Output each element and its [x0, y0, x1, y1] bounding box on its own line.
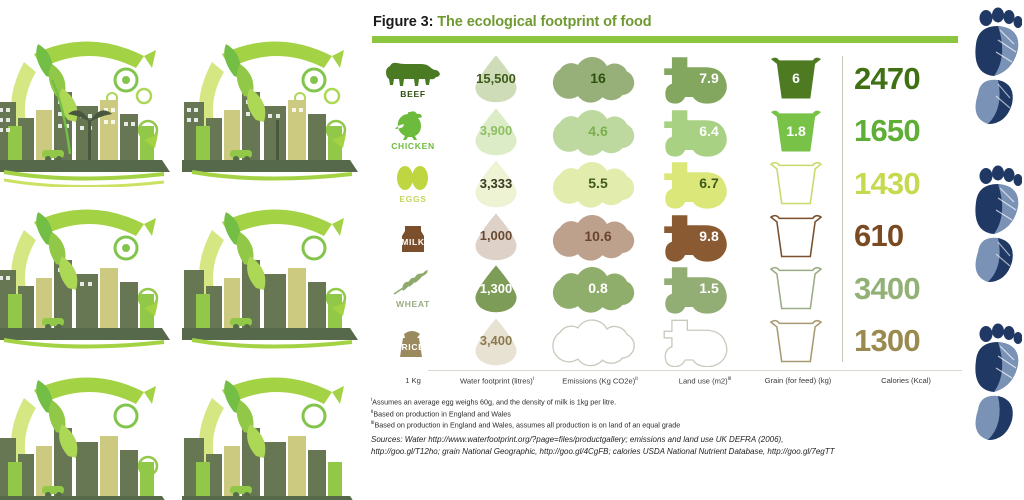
- calories-value: 2470: [854, 63, 920, 94]
- figure-title-text: The ecological footprint of food: [437, 14, 651, 30]
- water-drop-icon: 3,333: [460, 157, 532, 210]
- footnote-text: Based on production in England and Wales: [373, 409, 511, 418]
- calories-cell: 1300: [854, 315, 958, 368]
- emissions-cell: 0.8: [540, 262, 656, 315]
- tractor-icon: 1.5: [662, 262, 748, 315]
- emissions-value: 0.8: [588, 280, 607, 296]
- col-header-grain: Grain (for feed) (kg): [754, 376, 842, 385]
- emissions-cell: 5.5: [540, 157, 656, 210]
- calories-cell: 610: [854, 210, 958, 263]
- grain-cell: [754, 210, 838, 263]
- emissions-value: 4.6: [588, 123, 607, 139]
- eggs-icon: [384, 163, 442, 193]
- eco-city-illustration: [0, 358, 172, 500]
- land-use-value: 6.7: [699, 175, 718, 191]
- food-label: BEEF: [400, 89, 425, 99]
- sources-line-1: Sources: Water http://www.waterfootprint…: [371, 434, 959, 446]
- water-footprint-cell: 15,500: [460, 52, 532, 105]
- water-value: 3,333: [480, 176, 513, 191]
- sources-block: Sources: Water http://www.waterfootprint…: [371, 434, 959, 458]
- water-drop-icon: 1,300: [460, 262, 532, 315]
- beef-icon: [384, 58, 442, 88]
- calories-value: 1430: [854, 168, 920, 199]
- eco-city-illustration: [0, 190, 172, 355]
- eco-city-illustration: [0, 22, 172, 187]
- food-label: CHICKEN: [391, 141, 435, 151]
- footprint-logo-zone: [962, 0, 1024, 500]
- tractor-icon: 9.8: [662, 210, 748, 263]
- grain-basket-icon: 1.8: [754, 105, 838, 158]
- land-use-value: 7.9: [699, 70, 718, 86]
- water-value: 1,300: [480, 281, 513, 296]
- grain-cell: [754, 262, 838, 315]
- food-label: WHEAT: [396, 299, 430, 309]
- water-footprint-cell: 1,300: [460, 262, 532, 315]
- water-footprint-cell: 3,900: [460, 105, 532, 158]
- land-use-value: 6.4: [699, 123, 718, 139]
- footprint-logo-icon: [964, 320, 1022, 472]
- eco-illustration-zone: [0, 0, 362, 500]
- col-header-calories: Calories (Kcal): [854, 376, 958, 385]
- food-label: MILK: [401, 237, 425, 247]
- water-drop-icon: 3,400: [460, 315, 532, 368]
- land-use-cell: 6.7: [662, 157, 748, 210]
- eco-city-illustration: [182, 22, 360, 187]
- footnote-text: Assumes an average egg weighs 60g, and t…: [372, 397, 616, 406]
- grain-value: 6: [792, 70, 800, 86]
- eco-city-illustration: [182, 358, 360, 500]
- food-cell: CHICKEN: [374, 105, 452, 158]
- calories-value: 1300: [854, 325, 920, 356]
- footnote-text: Based on production in England and Wales…: [374, 420, 680, 429]
- land-use-value: 9.8: [699, 228, 718, 244]
- water-footprint-cell: 3,333: [460, 157, 532, 210]
- emissions-cell: 10.6: [540, 210, 656, 263]
- col-header-water: Water footprint (litres)i: [454, 376, 540, 386]
- calories-value: 610: [854, 220, 903, 251]
- figure-number: Figure 3:: [373, 14, 433, 30]
- table-row: BEEF 15,500 16 7.9: [368, 52, 962, 105]
- calories-cell: 2470: [854, 52, 958, 105]
- water-value: 1,000: [480, 228, 513, 243]
- emissions-cell: 16: [540, 52, 656, 105]
- table-row: EGGS 3,333 5.5 6.7: [368, 157, 962, 210]
- food-cell: RICE: [374, 315, 452, 368]
- land-use-cell: 9.8: [662, 210, 748, 263]
- eco-city-illustration: [182, 190, 360, 355]
- emissions-value: 10.6: [584, 228, 611, 244]
- emissions-value: 16: [590, 70, 606, 86]
- col-header-land: Land use (m2)iii: [660, 376, 750, 386]
- footnotes: iAssumes an average egg weighs 60g, and …: [371, 396, 951, 431]
- calories-value: 3400: [854, 273, 920, 304]
- table-row: RICE 3,400: [368, 315, 962, 368]
- tractor-icon: 6.4: [662, 105, 748, 158]
- col-header-emissions: Emissions (Kg CO2e)ii: [544, 376, 656, 386]
- emissions-cloud-icon: 0.8: [540, 262, 656, 315]
- emissions-cloud-icon: 16: [540, 52, 656, 105]
- calories-cell: 3400: [854, 262, 958, 315]
- emissions-cloud-icon: 10.6: [540, 210, 656, 263]
- grain-basket-icon: [754, 210, 838, 263]
- table-row: WHEAT 1,300 0.8 1.5: [368, 262, 962, 315]
- footnote: iAssumes an average egg weighs 60g, and …: [371, 396, 951, 408]
- footprint-table: BEEF 15,500 16 7.9: [368, 52, 962, 368]
- figure-panel: Figure 3: The ecological footprint of fo…: [368, 0, 962, 500]
- tractor-icon: [662, 315, 748, 368]
- grain-cell: 6: [754, 52, 838, 105]
- water-footprint-cell: 1,000: [460, 210, 532, 263]
- emissions-cell: [540, 315, 656, 368]
- footprint-logo-icon: [964, 4, 1022, 156]
- water-value: 3,400: [480, 333, 513, 348]
- grain-basket-icon: [754, 157, 838, 210]
- footnote: iiiBased on production in England and Wa…: [371, 419, 951, 431]
- chicken-icon: [384, 110, 442, 140]
- sources-line-2: http://goo.gl/T12ho; grain National Geog…: [371, 446, 959, 458]
- col-header-food: 1 Kg: [374, 376, 452, 385]
- food-cell: BEEF: [374, 52, 452, 105]
- table-row: MILK 1,000 10.6 9.8: [368, 210, 962, 263]
- land-use-cell: [662, 315, 748, 368]
- water-drop-icon: 3,900: [460, 105, 532, 158]
- food-cell: WHEAT: [374, 262, 452, 315]
- emissions-value: 5.5: [588, 175, 607, 191]
- infographic-page: Figure 3: The ecological footprint of fo…: [0, 0, 1024, 500]
- grain-cell: [754, 157, 838, 210]
- land-use-value: 1.5: [699, 280, 718, 296]
- water-drop-icon: 1,000: [460, 210, 532, 263]
- title-accent-bar: [372, 36, 958, 43]
- land-use-cell: 6.4: [662, 105, 748, 158]
- calories-cell: 1650: [854, 105, 958, 158]
- tractor-icon: 6.7: [662, 157, 748, 210]
- food-cell: MILK: [374, 210, 452, 263]
- land-use-cell: 1.5: [662, 262, 748, 315]
- calories-cell: 1430: [854, 157, 958, 210]
- water-footprint-cell: 3,400: [460, 315, 532, 368]
- food-label: EGGS: [399, 194, 426, 204]
- grain-cell: [754, 315, 838, 368]
- water-value: 3,900: [480, 123, 513, 138]
- emissions-cell: 4.6: [540, 105, 656, 158]
- emissions-cloud-icon: 5.5: [540, 157, 656, 210]
- footnote: iiBased on production in England and Wal…: [371, 408, 951, 420]
- footprint-logo-icon: [964, 162, 1022, 314]
- calories-value: 1650: [854, 115, 920, 146]
- emissions-cloud-icon: [540, 315, 656, 368]
- water-drop-icon: 15,500: [460, 52, 532, 105]
- tractor-icon: 7.9: [662, 52, 748, 105]
- header-rule: [428, 370, 962, 371]
- land-use-cell: 7.9: [662, 52, 748, 105]
- grain-basket-icon: 6: [754, 52, 838, 105]
- water-value: 15,500: [476, 71, 516, 86]
- grain-cell: 1.8: [754, 105, 838, 158]
- grain-value: 1.8: [786, 123, 805, 139]
- food-cell: EGGS: [374, 157, 452, 210]
- table-row: CHICKEN 3,900 4.6 6.4: [368, 105, 962, 158]
- grain-basket-icon: [754, 315, 838, 368]
- food-label: RICE: [401, 342, 424, 352]
- grain-basket-icon: [754, 262, 838, 315]
- column-divider: [842, 56, 843, 362]
- emissions-cloud-icon: 4.6: [540, 105, 656, 158]
- wheat-icon: [384, 268, 442, 298]
- figure-title: Figure 3: The ecological footprint of fo…: [373, 14, 652, 30]
